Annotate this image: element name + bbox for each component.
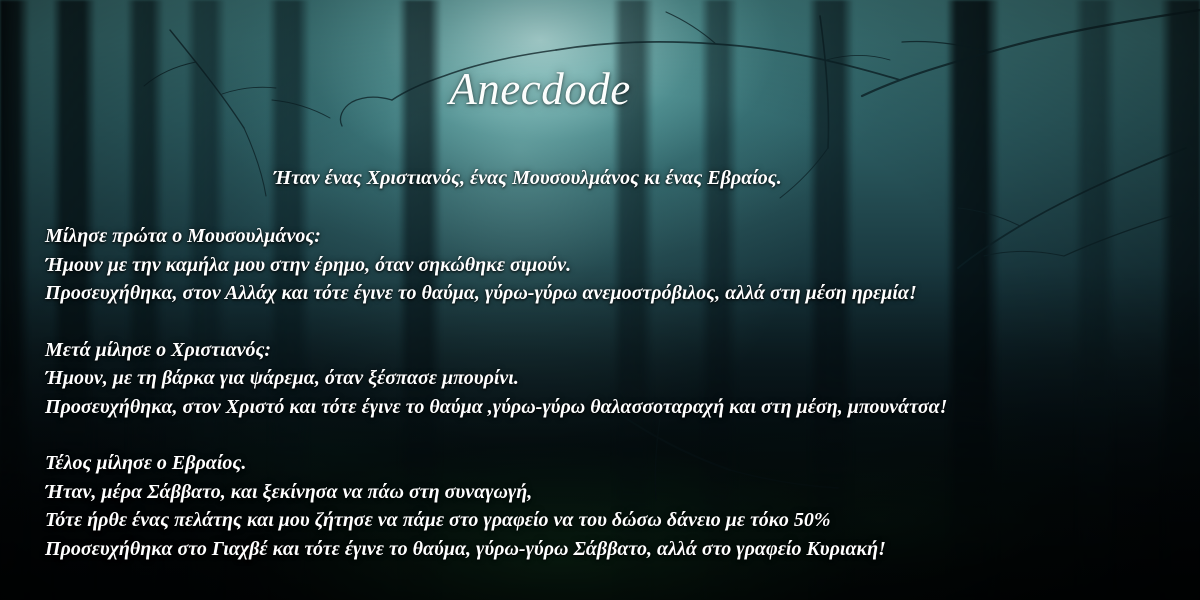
story-line: Ήμουν, με τη βάρκα για ψάρεμα, όταν ξέσπ… [45,364,1185,393]
story-line: Μετά μίλησε ο Χριστιανός: [45,336,1185,365]
story-line: Τότε ήρθε ένας πελάτης και μου ζήτησε να… [45,506,1185,535]
story-line: Τέλος μίλησε ο Εβραίος. [45,449,1185,478]
story-line: Προσευχήθηκα, στον Αλλάχ και τότε έγινε … [45,279,1185,308]
story-line: Ήμουν με την καμήλα μου στην έρημο, όταν… [45,251,1185,280]
paragraph-muslim: Μίλησε πρώτα ο Μουσουλμάνος: Ήμουν με τη… [45,222,1185,308]
story-body: Μίλησε πρώτα ο Μουσουλμάνος: Ήμουν με τη… [45,222,1185,563]
story-line: Μίλησε πρώτα ο Μουσουλμάνος: [45,222,1185,251]
story-line: Ήταν, μέρα Σάββατο, και ξεκίνησα να πάω … [45,478,1185,507]
page-title: Anecdode [0,66,1080,113]
slide-content: Anecdode Ήταν ένας Χριστιανός, ένας Μουσ… [0,0,1200,600]
slide-canvas: Anecdode Ήταν ένας Χριστιανός, ένας Μουσ… [0,0,1200,600]
story-line: Προσευχήθηκα στο Γιαχβέ και τότε έγινε τ… [45,535,1185,564]
paragraph-jew: Τέλος μίλησε ο Εβραίος. Ήταν, μέρα Σάββα… [45,449,1185,563]
story-line: Προσευχήθηκα, στον Χριστό και τότε έγινε… [45,393,1185,422]
paragraph-christian: Μετά μίλησε ο Χριστιανός: Ήμουν, με τη β… [45,336,1185,422]
intro-line: Ήταν ένας Χριστιανός, ένας Μουσουλμάνος … [0,166,1055,191]
